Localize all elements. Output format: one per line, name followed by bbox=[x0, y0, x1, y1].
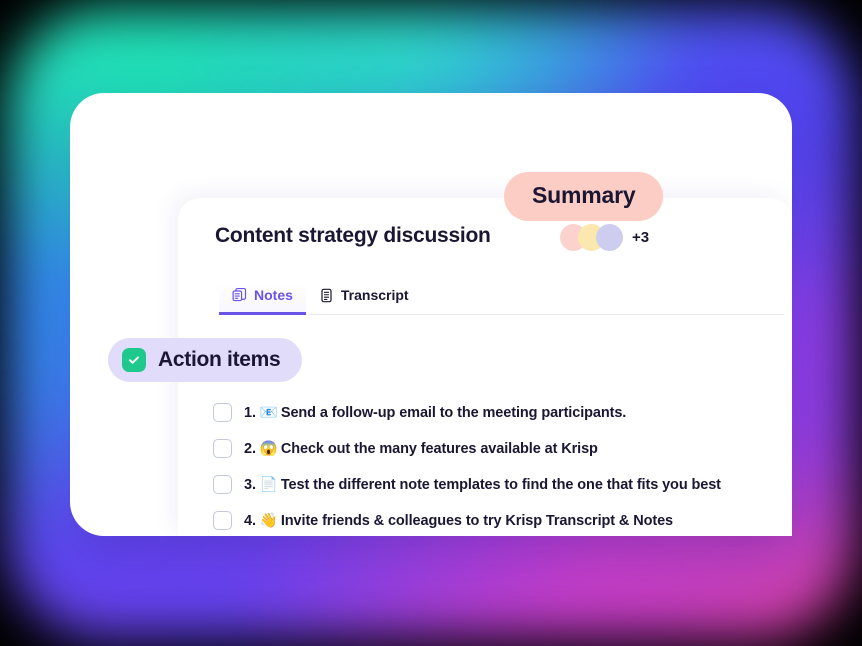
summary-badge[interactable]: Summary bbox=[504, 172, 663, 221]
task-checkbox[interactable] bbox=[213, 439, 232, 458]
task-label: 1.📧Send a follow-up email to the meeting… bbox=[244, 404, 626, 421]
tab-notes[interactable]: Notes bbox=[219, 283, 306, 315]
task-text: Check out the many features available at… bbox=[281, 441, 598, 457]
task-text: Invite friends & colleagues to try Krisp… bbox=[281, 513, 673, 529]
action-items-list: 1.📧Send a follow-up email to the meeting… bbox=[213, 394, 788, 538]
task-number: 3. bbox=[244, 477, 256, 493]
task-checkbox[interactable] bbox=[213, 403, 232, 422]
task-label: 3.📄Test the different note templates to … bbox=[244, 476, 721, 493]
tab-transcript[interactable]: Transcript bbox=[306, 283, 422, 315]
avatar bbox=[596, 224, 623, 251]
list-item[interactable]: 4.👋Invite friends & colleagues to try Kr… bbox=[213, 502, 788, 538]
card-header: Content strategy discussion +3 bbox=[215, 224, 775, 248]
task-checkbox[interactable] bbox=[213, 475, 232, 494]
list-item[interactable]: 1.📧Send a follow-up email to the meeting… bbox=[213, 394, 788, 430]
avatar-group[interactable]: +3 bbox=[560, 224, 649, 251]
task-emoji: 👋 bbox=[260, 513, 278, 529]
task-number: 1. bbox=[244, 405, 256, 421]
tab-notes-label: Notes bbox=[254, 287, 293, 303]
check-square-icon bbox=[122, 348, 146, 372]
tab-transcript-label: Transcript bbox=[341, 287, 409, 303]
page-title: Content strategy discussion bbox=[215, 224, 491, 248]
task-emoji: 📧 bbox=[260, 405, 278, 421]
task-emoji: 😱 bbox=[260, 441, 278, 457]
app-stage: Summary Content strategy discussion +3 N… bbox=[0, 0, 862, 646]
notes-icon bbox=[232, 288, 247, 303]
task-number: 2. bbox=[244, 441, 256, 457]
action-items-label: Action items bbox=[158, 348, 280, 372]
task-text: Send a follow-up email to the meeting pa… bbox=[281, 405, 626, 421]
action-items-header-pill[interactable]: Action items bbox=[108, 338, 302, 382]
task-number: 4. bbox=[244, 513, 256, 529]
avatar-overflow-count: +3 bbox=[632, 229, 649, 246]
task-label: 4.👋Invite friends & colleagues to try Kr… bbox=[244, 512, 673, 529]
transcript-icon bbox=[319, 288, 334, 303]
task-label: 2.😱Check out the many features available… bbox=[244, 440, 598, 457]
task-checkbox[interactable] bbox=[213, 511, 232, 530]
tab-bar: Notes Transcript bbox=[219, 283, 784, 315]
list-item[interactable]: 3.📄Test the different note templates to … bbox=[213, 466, 788, 502]
list-item[interactable]: 2.😱Check out the many features available… bbox=[213, 430, 788, 466]
task-text: Test the different note templates to fin… bbox=[281, 477, 721, 493]
task-emoji: 📄 bbox=[260, 477, 278, 493]
